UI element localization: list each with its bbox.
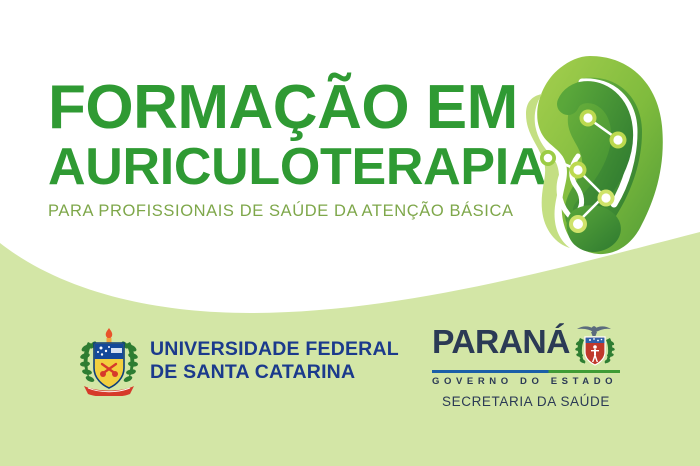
subtitle: PARA PROFISSIONAIS DE SAÚDE DA ATENÇÃO B… (48, 202, 518, 221)
ufsc-line-2: DE SANTA CATARINA (150, 361, 399, 384)
parana-secretary-label: SECRETARIA DA SAÚDE (432, 394, 620, 409)
parana-wordmark-row: PARANÁ (432, 326, 632, 368)
parana-government-logo: PARANÁ (432, 326, 632, 409)
parana-wordmark: PARANÁ (432, 326, 570, 357)
footer-logos: UNIVERSIDADE FEDERAL DE SANTA CATARINA P… (0, 312, 700, 422)
title-block: FORMAÇÃO EM AURICULOTERAPIA PARA PROFISS… (48, 78, 518, 221)
ufsc-line-1: UNIVERSIDADE FEDERAL (150, 338, 399, 361)
ufsc-name: UNIVERSIDADE FEDERAL DE SANTA CATARINA (150, 338, 399, 383)
parana-coat-of-arms-icon (573, 320, 617, 368)
ufsc-logo: UNIVERSIDADE FEDERAL DE SANTA CATARINA (78, 326, 399, 396)
title-line-1: FORMAÇÃO EM (48, 78, 518, 139)
ufsc-coat-of-arms-icon (78, 326, 140, 396)
auriculotherapy-training-banner: FORMAÇÃO EM AURICULOTERAPIA PARA PROFISS… (0, 0, 700, 466)
parana-government-label: GOVERNO DO ESTADO (432, 376, 632, 387)
title-line-2: AURICULOTERAPIA (48, 141, 518, 193)
ear-acupuncture-icon (512, 52, 672, 257)
parana-divider (432, 370, 620, 373)
